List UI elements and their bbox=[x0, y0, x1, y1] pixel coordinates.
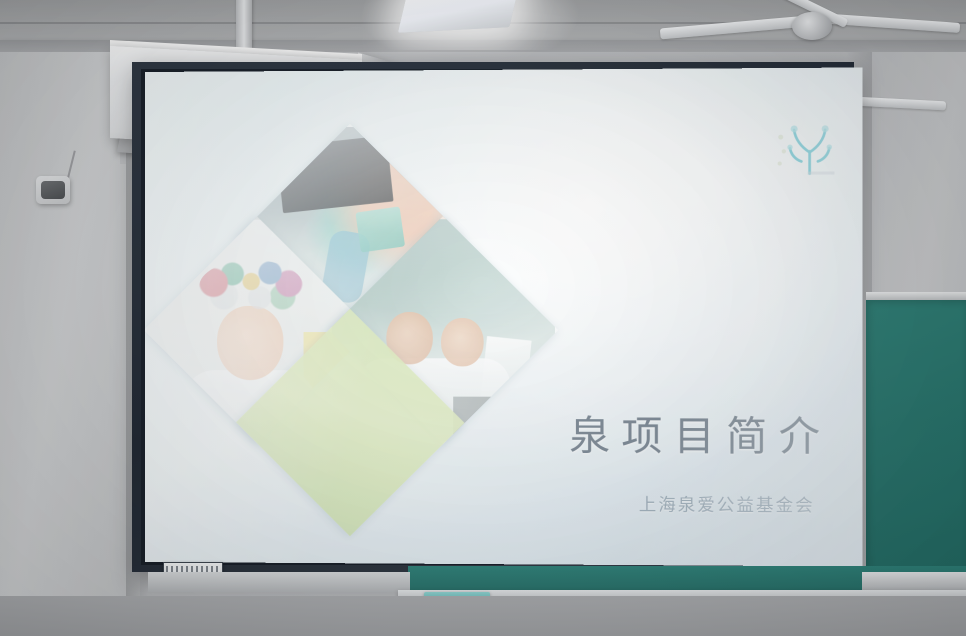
photo-shape bbox=[276, 135, 393, 213]
diamond-collage bbox=[179, 161, 522, 504]
wall-speaker bbox=[36, 176, 70, 204]
photo-shape bbox=[441, 318, 484, 366]
slide-footer: 上海泉爱公益基金会 bbox=[639, 490, 815, 516]
quanai-foundation-logo bbox=[770, 121, 849, 180]
fan-hub bbox=[792, 12, 832, 40]
photo-shape bbox=[453, 397, 551, 444]
photo-shape bbox=[217, 306, 283, 380]
ceiling-fan-rear bbox=[660, 0, 960, 46]
floor-strip bbox=[0, 596, 966, 636]
photo-shape bbox=[355, 206, 405, 252]
photo-shape bbox=[199, 260, 303, 314]
chalk-tray-right bbox=[862, 572, 966, 590]
chalkboard-right bbox=[866, 300, 966, 574]
classroom-scene: 泉项目简介 上海泉爱公益基金会 bbox=[0, 0, 966, 636]
projection-screen: 泉项目简介 上海泉爱公益基金会 bbox=[145, 67, 862, 566]
fan-blade bbox=[660, 16, 808, 40]
slide-title: 泉项目简介 bbox=[569, 403, 831, 463]
board-ledge-left bbox=[148, 572, 410, 592]
